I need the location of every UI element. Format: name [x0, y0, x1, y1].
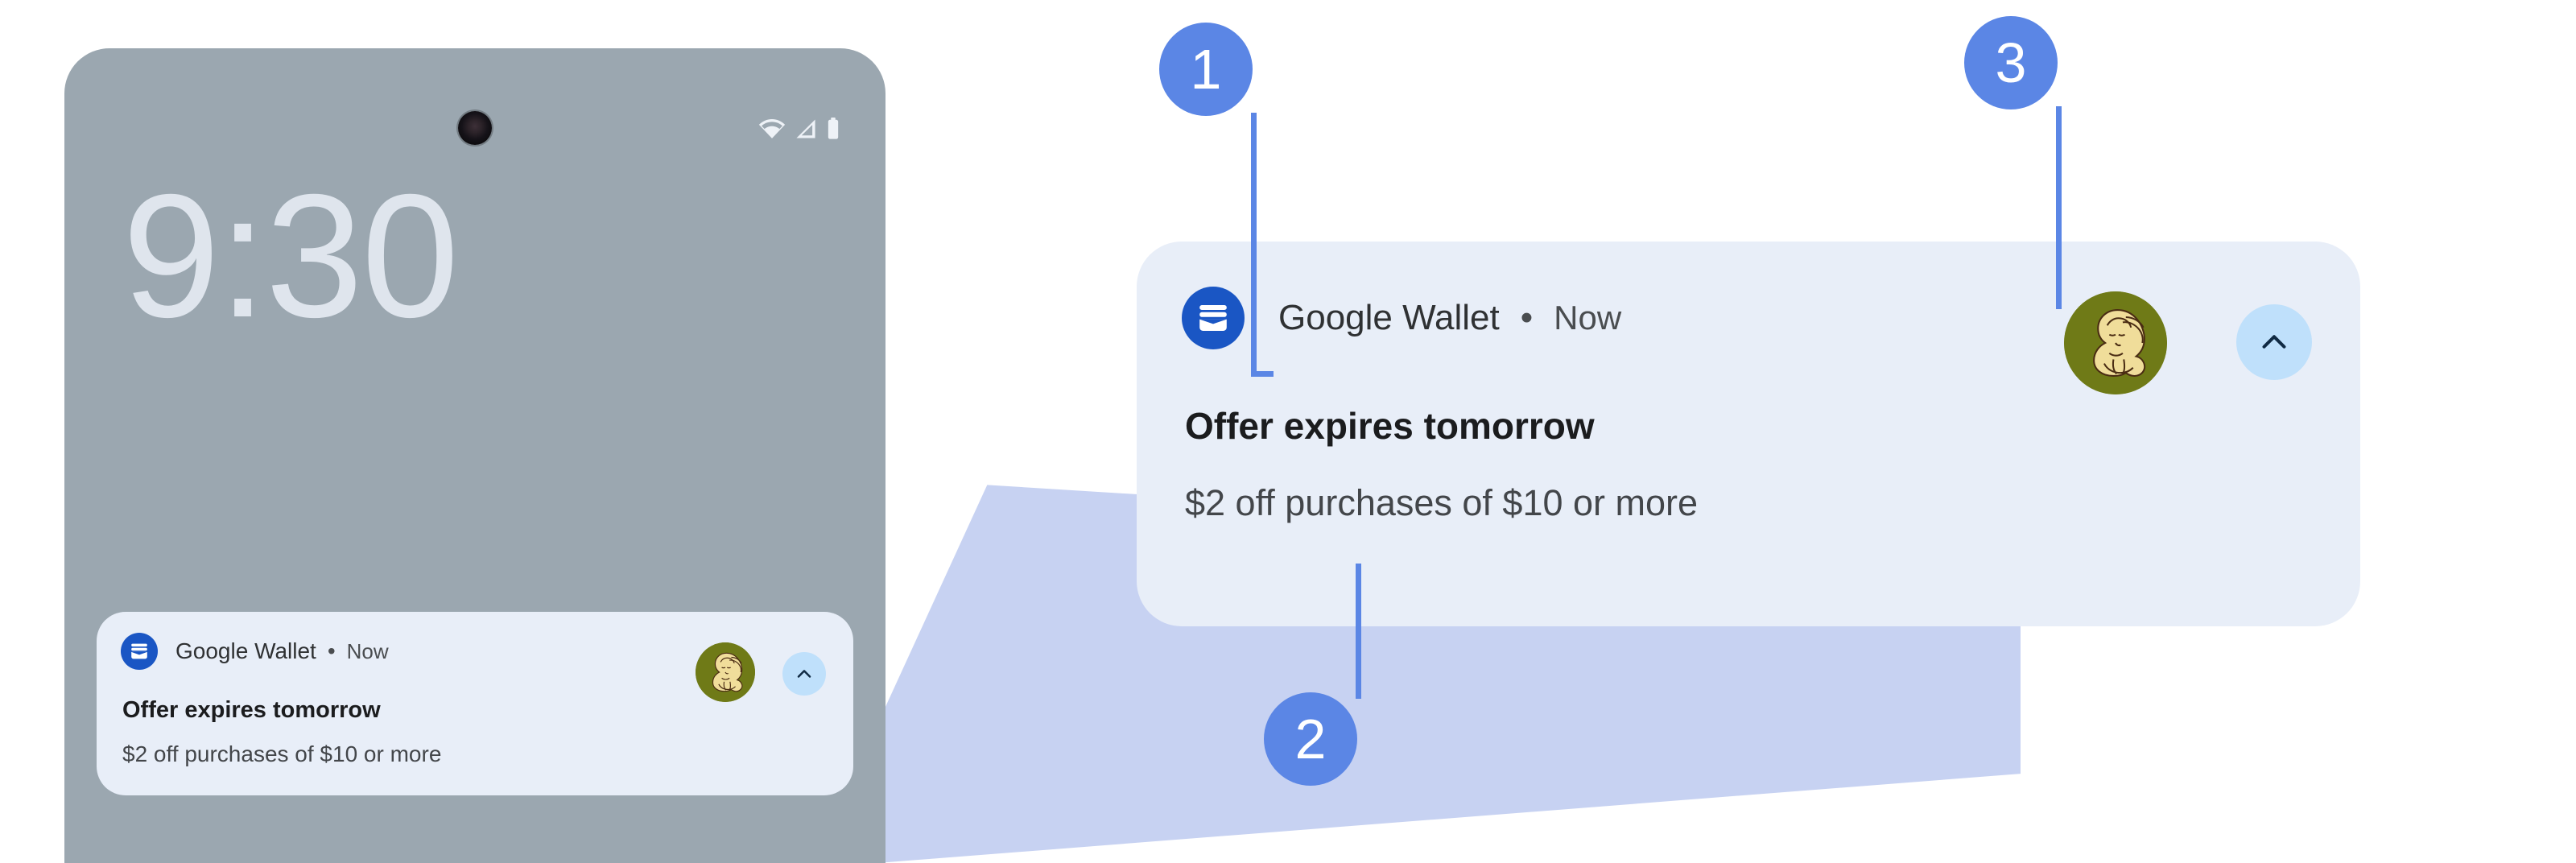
front-camera-icon: [458, 111, 492, 145]
notification-body: $2 off purchases of $10 or more: [122, 741, 829, 767]
callout-badge-3[interactable]: 3: [1964, 16, 2058, 109]
chevron-up-icon-large[interactable]: [2236, 304, 2312, 380]
app-name-label: Google Wallet: [175, 638, 316, 664]
timestamp-label-large: Now: [1554, 299, 1621, 337]
google-wallet-icon: [121, 633, 158, 670]
callout-badge-1[interactable]: 1: [1159, 23, 1253, 116]
google-wallet-icon: [1182, 287, 1245, 349]
cellular-signal-icon: [794, 118, 818, 139]
callout-2-leader-line: [1356, 564, 1361, 699]
app-name-label-large: Google Wallet: [1278, 298, 1500, 338]
callout-badge-2[interactable]: 2: [1264, 692, 1357, 786]
merchant-logo-avatar-large: [2064, 291, 2167, 394]
phone-mockup: 9:30 Google Wallet • Now Offer expires t…: [64, 48, 885, 863]
notification-card-large[interactable]: Google Wallet • Now Offer expires tomorr…: [1137, 242, 2360, 626]
callout-2-number: 2: [1264, 692, 1357, 786]
lock-screen-clock: 9:30: [122, 169, 457, 345]
callout-3-leader-line-bottom: [2056, 224, 2062, 309]
figure-canvas: 9:30 Google Wallet • Now Offer expires t…: [0, 0, 2576, 863]
status-bar: [758, 118, 840, 140]
chevron-up-icon[interactable]: [782, 652, 826, 696]
battery-icon: [826, 118, 840, 140]
callout-1-leader-elbow: [1251, 371, 1274, 377]
callout-1-leader-line-top: [1251, 113, 1257, 225]
notification-card-small[interactable]: Google Wallet • Now Offer expires tomorr…: [97, 612, 853, 795]
notification-title-large: Offer expires tomorrow: [1185, 404, 2310, 448]
callout-3-number: 3: [1964, 16, 2058, 109]
merchant-logo-avatar: [696, 642, 755, 702]
notification-body-large: $2 off purchases of $10 or more: [1185, 482, 2310, 524]
callout-1-number: 1: [1159, 23, 1253, 116]
callout-3-leader-line-top: [2056, 106, 2062, 225]
timestamp-label: Now: [347, 639, 389, 664]
wifi-icon: [758, 118, 786, 139]
separator-dot-large: •: [1521, 298, 1533, 338]
callout-1-leader-line-bottom: [1251, 224, 1257, 377]
separator-dot: •: [328, 638, 336, 664]
